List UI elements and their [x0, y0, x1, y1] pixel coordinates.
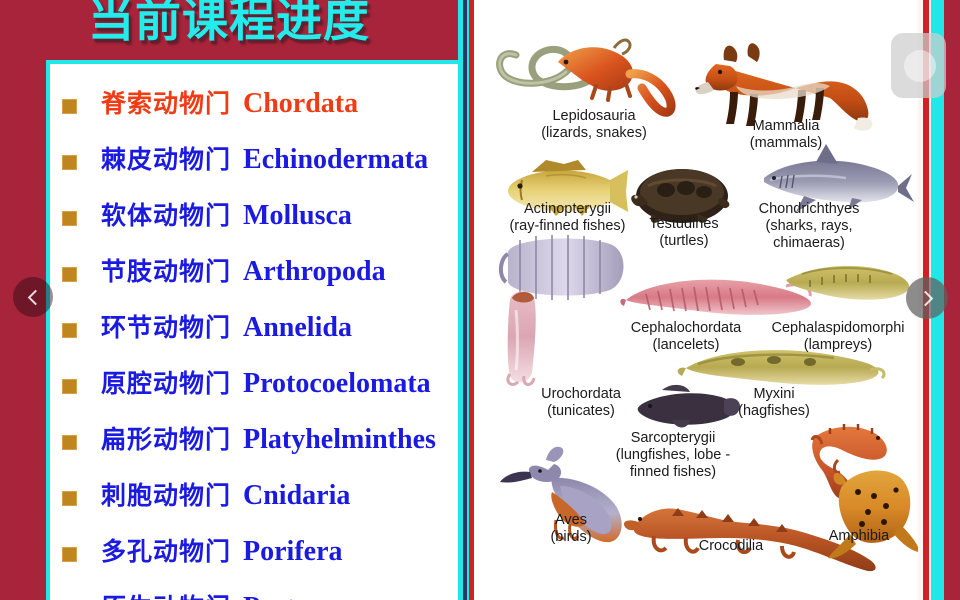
taxon-name: Lepidosauria	[504, 108, 684, 125]
phylum-name-la: Mollusca	[243, 201, 352, 231]
bullet-square-icon	[62, 211, 77, 226]
overlay-control-button[interactable]	[891, 33, 946, 98]
chevron-right-icon	[917, 290, 933, 306]
phylum-name-la: Platyhelminthes	[243, 425, 436, 455]
phylum-name-cn: 原腔动物门	[101, 369, 231, 399]
list-item[interactable]: 原生动物门 Protozoa	[50, 580, 458, 600]
phylum-name-la: Protocoelomata	[243, 369, 431, 399]
course-progress-slide: 当前课程进度 脊索动物门 Chordata 棘皮动物门 Echinodermat…	[0, 0, 458, 600]
list-item[interactable]: 脊索动物门 Chordata	[50, 76, 458, 132]
taxon-common: (lungfishes, lobe -finned fishes)	[608, 447, 738, 481]
art-urochordata	[501, 235, 624, 385]
phylum-list-card: 脊索动物门 Chordata 棘皮动物门 Echinodermata 软体动物门…	[46, 60, 458, 600]
phylum-name-cn: 软体动物门	[101, 201, 231, 231]
taxon-common: (ray-finned fishes)	[490, 218, 645, 235]
vertebrate-classes-illustration	[486, 0, 918, 600]
taxon-name: Chondrichthyes	[744, 201, 874, 218]
taxon-label-myxini: Myxini (hagfishes)	[714, 386, 834, 420]
chevron-left-icon	[27, 289, 43, 305]
taxon-common: (mammals)	[711, 135, 861, 152]
taxon-common: (lampreys)	[758, 337, 918, 354]
phylum-name-la: Arthropoda	[243, 257, 386, 287]
bullet-square-icon	[62, 547, 77, 562]
taxon-label-crocodilia: Crocodilia	[666, 538, 796, 555]
list-item[interactable]: 原腔动物门 Protocoelomata	[50, 356, 458, 412]
list-item[interactable]: 节肢动物门 Arthropoda	[50, 244, 458, 300]
list-item[interactable]: 扁形动物门 Platyhelminthes	[50, 412, 458, 468]
phylum-name-cn: 环节动物门	[101, 313, 231, 343]
bullet-square-icon	[62, 155, 77, 170]
taxon-name: Cephalaspidomorphi	[758, 320, 918, 337]
art-myxini	[678, 350, 884, 385]
taxon-name: Aves	[516, 512, 626, 529]
taxon-label-sarcopterygii: Sarcopterygii (lungfishes, lobe -finned …	[608, 430, 738, 481]
taxon-label-urochordata: Urochordata (tunicates)	[516, 386, 646, 420]
list-item[interactable]: 刺胞动物门 Cnidaria	[50, 468, 458, 524]
list-item[interactable]: 软体动物门 Mollusca	[50, 188, 458, 244]
phylum-name-la: Annelida	[243, 313, 352, 343]
taxon-name: Actinopterygii	[490, 201, 645, 218]
taxon-name: Sarcopterygii	[608, 430, 738, 447]
taxon-label-aves: Aves (birds)	[516, 512, 626, 546]
bullet-square-icon	[62, 267, 77, 282]
taxon-common: (tunicates)	[516, 403, 646, 420]
taxon-label-testudines: Testudines (turtles)	[629, 216, 739, 250]
art-cephalochordata	[620, 280, 811, 315]
taxon-common: (sharks, rays, chimaeras)	[744, 218, 874, 252]
taxon-common: (birds)	[516, 529, 626, 546]
bullet-square-icon	[62, 379, 77, 394]
art-cephalaspidomorphi	[786, 266, 909, 300]
taxon-label-amphibia: Amphibia	[804, 528, 914, 545]
taxon-name: Cephalochordata	[616, 320, 756, 337]
taxon-label-chondrichthyes: Chondrichthyes (sharks, rays, chimaeras)	[744, 201, 874, 252]
phylum-name-la: Protozoa	[243, 593, 350, 600]
phylum-name-cn: 节肢动物门	[101, 257, 231, 287]
phylum-name-cn: 棘皮动物门	[101, 145, 231, 175]
art-lepidosauria	[500, 40, 672, 112]
taxon-common: (lancelets)	[616, 337, 756, 354]
phylum-name-la: Porifera	[243, 537, 343, 567]
bullet-square-icon	[62, 323, 77, 338]
taxon-name: Mammalia	[711, 118, 861, 135]
list-item[interactable]: 环节动物门 Annelida	[50, 300, 458, 356]
taxon-label-cephalaspidomorphi: Cephalaspidomorphi (lampreys)	[758, 320, 918, 354]
phylum-name-cn: 原生动物门	[101, 593, 231, 600]
phylum-name-cn: 多孔动物门	[101, 537, 231, 567]
phylum-name-la: Echinodermata	[243, 145, 428, 175]
taxon-common: (lizards, snakes)	[504, 125, 684, 142]
bullet-square-icon	[62, 491, 77, 506]
taxon-name: Crocodilia	[666, 538, 796, 555]
overlay-button-icon	[904, 50, 936, 82]
phylum-name-la: Cnidaria	[243, 481, 350, 511]
previous-slide-button[interactable]	[13, 277, 53, 317]
phylum-name-cn: 脊索动物门	[101, 89, 231, 119]
list-item[interactable]: 多孔动物门 Porifera	[50, 524, 458, 580]
art-testudines	[631, 169, 729, 223]
taxon-name: Urochordata	[516, 386, 646, 403]
taxon-label-mammalia: Mammalia (mammals)	[711, 118, 861, 152]
phylum-name-cn: 刺胞动物门	[101, 481, 231, 511]
taxon-name: Myxini	[714, 386, 834, 403]
next-slide-button[interactable]	[906, 277, 948, 319]
taxon-label-actinopterygii: Actinopterygii (ray-finned fishes)	[490, 201, 645, 235]
taxon-name: Testudines	[629, 216, 739, 233]
slide-viewer: 当前课程进度 脊索动物门 Chordata 棘皮动物门 Echinodermat…	[0, 0, 960, 600]
taxon-name: Amphibia	[804, 528, 914, 545]
panel-divider	[458, 0, 486, 600]
taxon-label-cephalochordata: Cephalochordata (lancelets)	[616, 320, 756, 354]
phylum-name-la: Chordata	[243, 89, 358, 119]
list-item[interactable]: 棘皮动物门 Echinodermata	[50, 132, 458, 188]
taxon-common: (hagfishes)	[714, 403, 834, 420]
bullet-square-icon	[62, 99, 77, 114]
bullet-square-icon	[62, 435, 77, 450]
taxon-label-lepidosauria: Lepidosauria (lizards, snakes)	[504, 108, 684, 142]
page-title: 当前课程进度	[0, 0, 458, 48]
phylum-name-cn: 扁形动物门	[101, 425, 231, 455]
chordate-diagram-panel: Lepidosauria (lizards, snakes) Mammalia …	[486, 0, 918, 600]
taxon-common: (turtles)	[629, 233, 739, 250]
